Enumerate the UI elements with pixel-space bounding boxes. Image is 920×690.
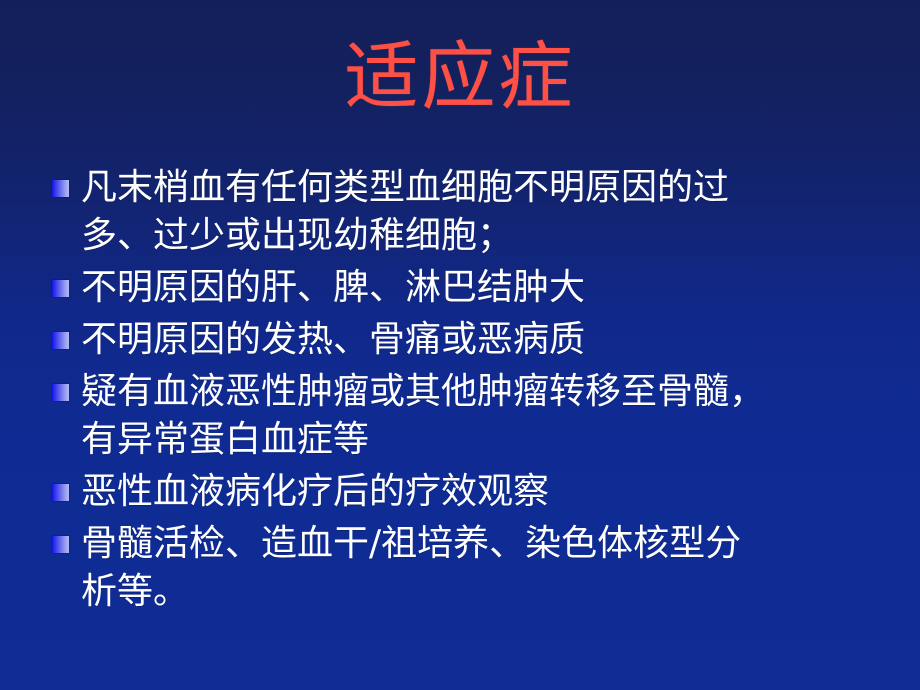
bullet-square-icon (52, 280, 69, 297)
presentation-slide: 适应症 凡末梢血有任何类型血细胞不明原因的过 多、过少或出现幼稚细胞； 不明原因… (0, 0, 920, 690)
bullet-square-icon (52, 536, 69, 553)
list-item-line-2: 析等。 (81, 568, 900, 616)
list-item: 恶性血液病化疗后的疗效观察 (52, 468, 900, 516)
list-item-text: 不明原因的发热、骨痛或恶病质 (81, 316, 900, 364)
list-item-text: 疑有血液恶性肿瘤或其他肿瘤转移至骨髓， 有异常蛋白血症等 (81, 368, 900, 464)
list-item-line-1: 疑有血液恶性肿瘤或其他肿瘤转移至骨髓， (81, 371, 765, 412)
list-item-line-1: 凡末梢血有任何类型血细胞不明原因的过 (81, 167, 729, 208)
list-item: 凡末梢血有任何类型血细胞不明原因的过 多、过少或出现幼稚细胞； (52, 164, 900, 260)
page-title: 适应症 (0, 34, 920, 120)
bullet-square-icon (52, 484, 69, 501)
list-item-text: 恶性血液病化疗后的疗效观察 (81, 468, 900, 516)
list-item-line-1: 不明原因的发热、骨痛或恶病质 (81, 319, 585, 360)
bullet-list: 凡末梢血有任何类型血细胞不明原因的过 多、过少或出现幼稚细胞； 不明原因的肝、脾… (52, 164, 900, 620)
list-item-line-1: 骨髓活检、造血干/祖培养、染色体核型分 (81, 523, 741, 564)
list-item: 不明原因的发热、骨痛或恶病质 (52, 316, 900, 364)
list-item-text: 不明原因的肝、脾、淋巴结肿大 (81, 264, 900, 312)
list-item-line-1: 恶性血液病化疗后的疗效观察 (81, 471, 549, 512)
list-item-text: 骨髓活检、造血干/祖培养、染色体核型分 析等。 (81, 520, 900, 616)
bullet-square-icon (52, 180, 69, 197)
list-item: 不明原因的肝、脾、淋巴结肿大 (52, 264, 900, 312)
bullet-square-icon (52, 384, 69, 401)
bullet-square-icon (52, 332, 69, 349)
list-item-line-1: 不明原因的肝、脾、淋巴结肿大 (81, 267, 585, 308)
list-item: 骨髓活检、造血干/祖培养、染色体核型分 析等。 (52, 520, 900, 616)
list-item-line-2: 多、过少或出现幼稚细胞； (81, 212, 900, 260)
list-item-line-2: 有异常蛋白血症等 (81, 416, 900, 464)
list-item: 疑有血液恶性肿瘤或其他肿瘤转移至骨髓， 有异常蛋白血症等 (52, 368, 900, 464)
list-item-text: 凡末梢血有任何类型血细胞不明原因的过 多、过少或出现幼稚细胞； (81, 164, 900, 260)
